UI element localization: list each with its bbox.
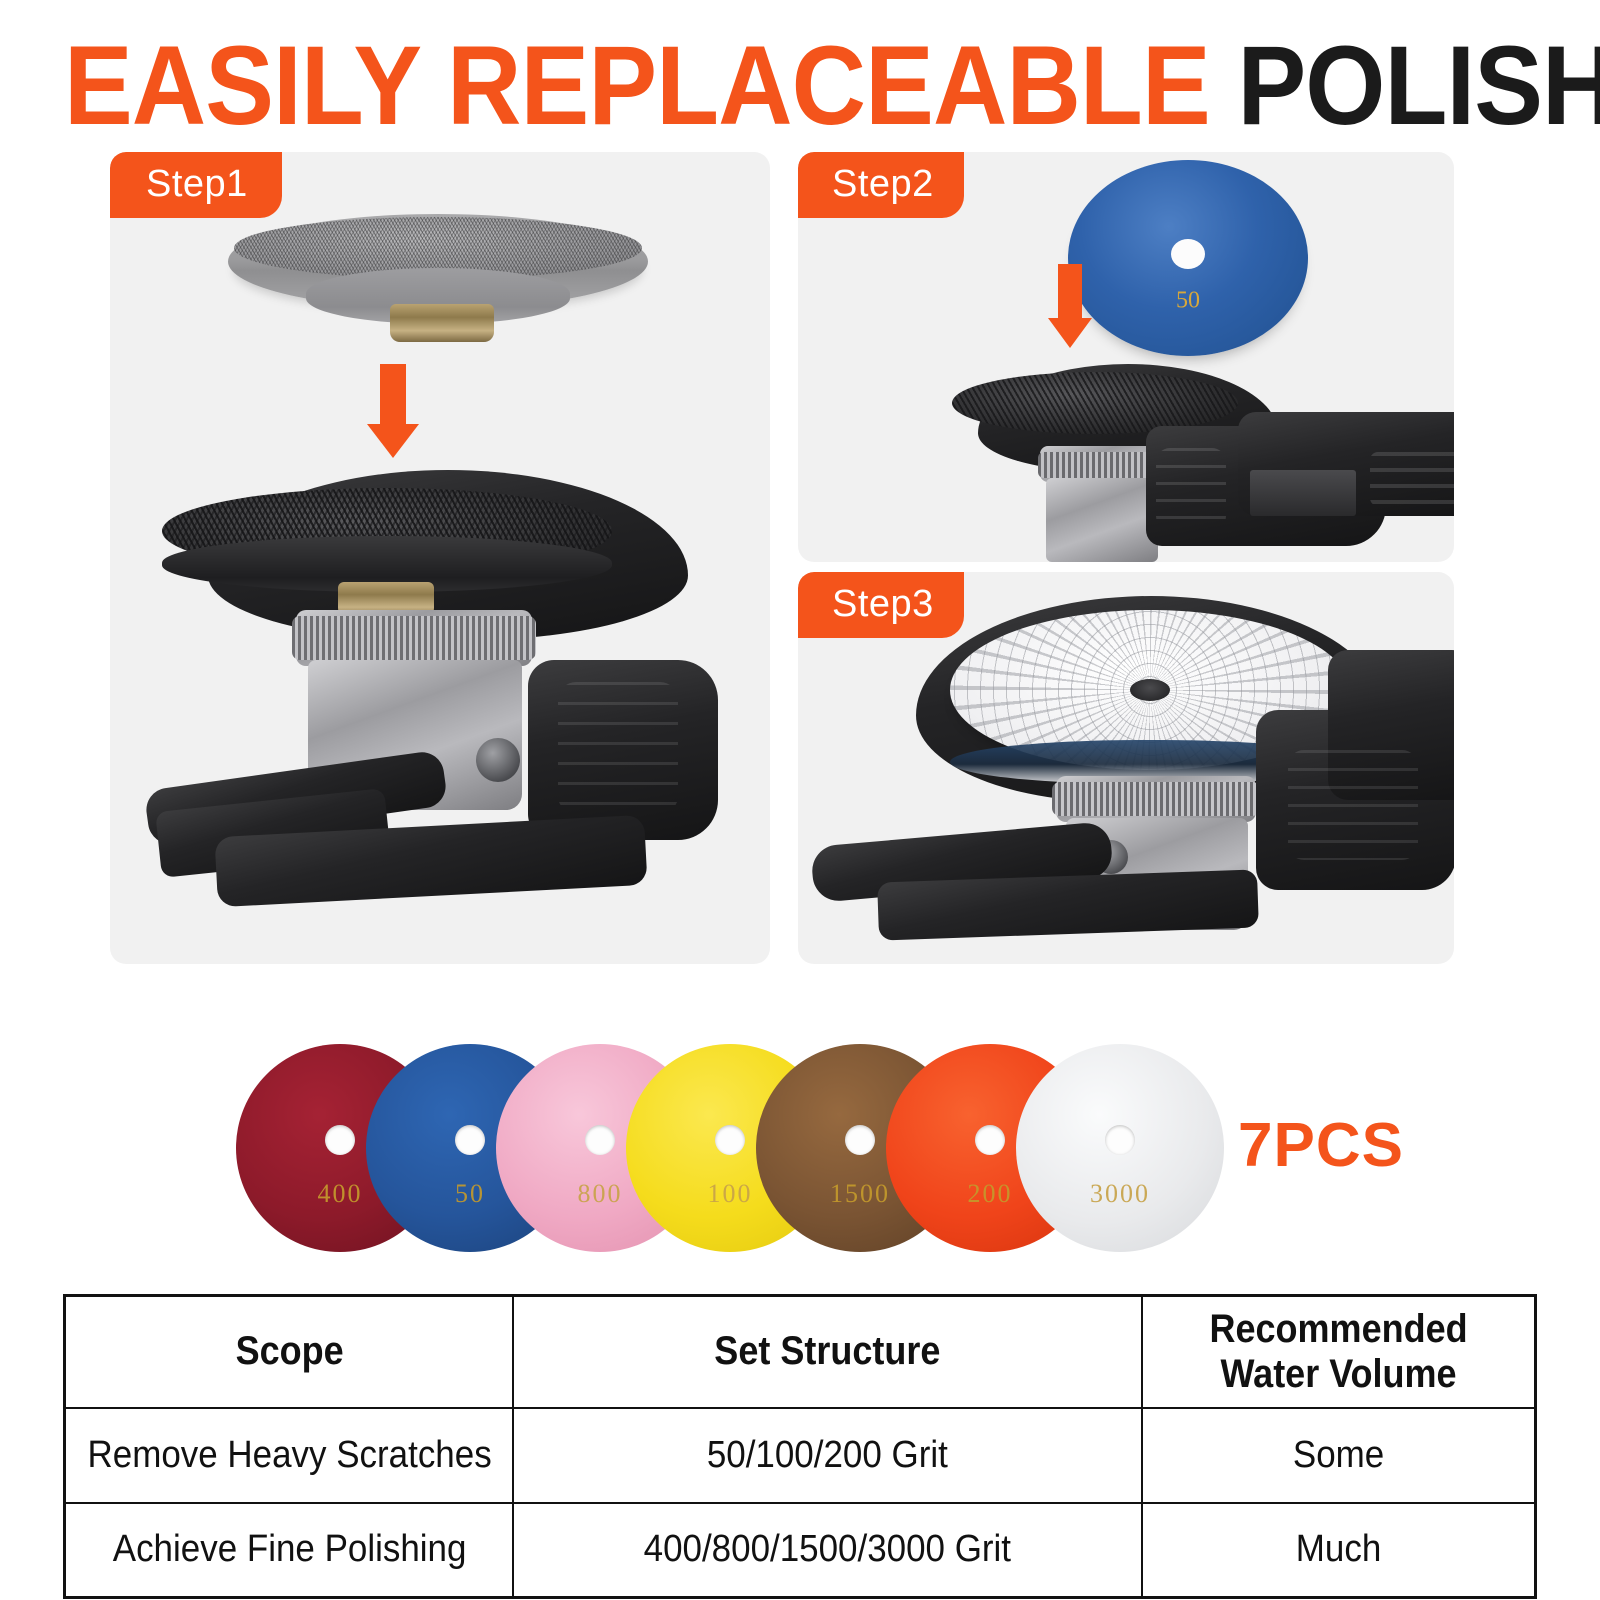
table-header-row: Scope Set Structure Recommended Water Vo… [65,1296,1536,1408]
header-water-volume: Recommended Water Volume [1162,1296,1516,1408]
table-row: Achieve Fine Polishing 400/800/1500/3000… [65,1503,1536,1598]
page-title: EASILY REPLACEABLE POLISHING PADS [64,30,1536,142]
white-pad: 3000 [1016,1044,1224,1252]
pad-hole [325,1125,355,1155]
pad-hole [845,1125,875,1155]
pad-grit-label: 3000 [1090,1179,1150,1209]
pad-hole [975,1125,1005,1155]
step-1-badge: Step1 [110,152,282,218]
polisher-tool-graphic [146,470,736,940]
down-arrow-icon [1020,264,1120,360]
cell-water: Some [1158,1408,1520,1503]
pad-hole [455,1125,485,1155]
header-water-volume-line1: Recommended [1209,1307,1467,1351]
down-arrow-icon [338,364,448,460]
header-scope: Scope [87,1296,491,1408]
pad-grit-label: 50 [455,1179,485,1209]
step-2-panel: Step2 50 [798,152,1454,562]
pad-grit-label: 800 [578,1179,623,1209]
polisher-tool-graphic [858,590,1454,950]
pad-grit-label: 200 [968,1179,1013,1209]
table-row: Remove Heavy Scratches 50/100/200 Grit S… [65,1408,1536,1503]
pads-row: 400 50 800 100 1500 200 3000 7PCS [0,1032,1600,1268]
polisher-tool-graphic [918,360,1454,560]
blue-pad-grit-label: 50 [1176,288,1200,315]
spec-table: Scope Set Structure Recommended Water Vo… [63,1294,1537,1599]
step-1-panel: Step1 [110,152,770,964]
step-2-badge: Step2 [798,152,964,218]
pad-count-label: 7PCS [1238,1110,1404,1181]
pad-hole [585,1125,615,1155]
step-3-panel: Step3 [798,572,1454,964]
pad-grit-label: 400 [318,1179,363,1209]
step-3-badge: Step3 [798,572,964,638]
cell-structure: 50/100/200 Grit [538,1408,1116,1503]
pad-grit-label: 100 [708,1179,753,1209]
infographic-page: EASILY REPLACEABLE POLISHING PADS Step1 [0,0,1600,1600]
cell-scope: Achieve Fine Polishing [82,1503,495,1598]
cell-water: Much [1158,1503,1520,1598]
pad-grit-label: 1500 [830,1179,890,1209]
header-set-structure: Set Structure [545,1296,1111,1408]
pad-hole [715,1125,745,1155]
cell-scope: Remove Heavy Scratches [82,1408,495,1503]
cell-structure: 400/800/1500/3000 Grit [538,1503,1116,1598]
backing-pad-graphic [228,214,648,309]
brass-hub-icon [390,304,494,342]
pad-hole [1105,1125,1135,1155]
title-highlight: EASILY REPLACEABLE [64,23,1210,148]
title-rest: POLISHING PADS [1237,23,1600,148]
header-water-volume-line2: Water Volume [1220,1352,1456,1396]
